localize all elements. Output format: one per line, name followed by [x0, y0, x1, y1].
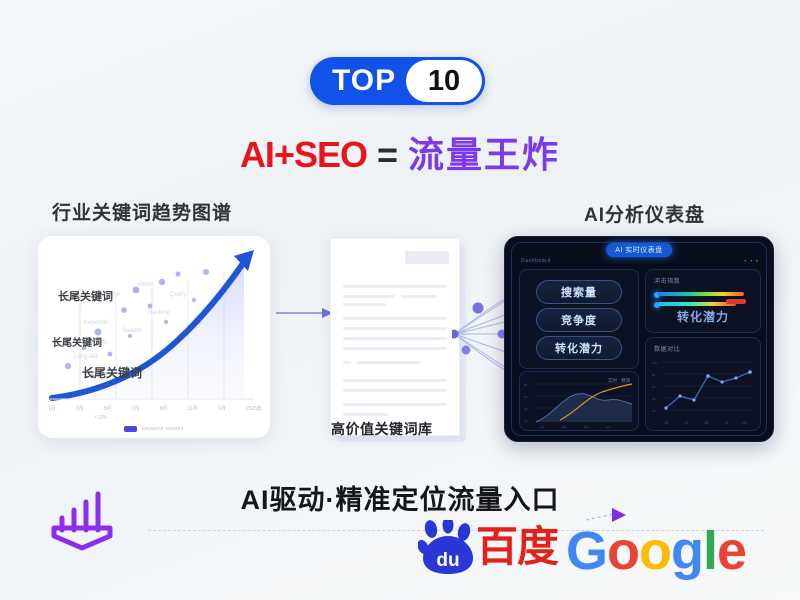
doc-line [343, 379, 447, 382]
metric-button-competition[interactable]: 竞争度 [536, 308, 622, 332]
bottom-tagline: AI驱动·精准定位流量入口 [0, 478, 800, 517]
doc-line [343, 295, 395, 298]
svg-text:Q1: Q1 [540, 425, 544, 429]
section-title-dashboard: AI分析仪表盘 [584, 200, 705, 227]
google-letter: G [566, 521, 607, 581]
metric-button-search-volume[interactable]: 搜索量 [536, 280, 622, 304]
doc-line [343, 389, 447, 392]
flow-arrow-icon [276, 304, 334, 322]
svg-text:40: 40 [652, 397, 656, 401]
trend-legend: keyword volume [38, 426, 270, 432]
trend-chart-card: VolumeIntent KeywordSearch TrafficRankin… [38, 236, 270, 438]
axis-tick: 1月 [218, 405, 226, 412]
keyword-library-label: 高价值关键词库 [331, 419, 433, 439]
doc-line [343, 285, 447, 288]
doc-line [343, 317, 447, 320]
keyword-library-card: 高价值关键词库 [330, 238, 460, 436]
doc-line [343, 327, 447, 330]
headline-equals: = [377, 134, 398, 175]
svg-text:60: 60 [652, 385, 656, 389]
svg-text:3月: 3月 [684, 421, 689, 425]
svg-text:60: 60 [524, 395, 528, 399]
keyword-label-1: 长尾关键词 [58, 288, 113, 304]
dashboard-area-chart-panel: 实时 · 预测 Q1Q2 Q3Q4 8060 4020 [519, 371, 639, 431]
legend-label: keyword volume [142, 426, 184, 432]
svg-text:Intent: Intent [138, 282, 153, 288]
svg-text:Query: Query [170, 292, 186, 298]
svg-text:100: 100 [652, 361, 657, 365]
axis-tick: 7月 [132, 405, 140, 412]
axis-tick: 1月 [48, 405, 56, 412]
doc-header-block [405, 251, 449, 264]
doc-line [357, 361, 421, 364]
dashboard-header-label: Dashboard [521, 258, 551, 264]
top-badge-label: TOP [332, 66, 396, 96]
doc-line [343, 303, 387, 306]
page-title: AI+SEO=流量王炸 [0, 126, 800, 178]
google-letter: o [607, 521, 639, 581]
google-letter: e [717, 521, 746, 581]
top-badge-number: 10 [428, 67, 460, 96]
axis-tick: 9月 [160, 405, 168, 412]
doc-line [343, 337, 447, 340]
bar-chart-icon [48, 486, 118, 552]
keyword-label-2: 长尾关键词 [52, 334, 102, 349]
google-letter: g [671, 521, 703, 581]
svg-text:9月: 9月 [742, 421, 747, 425]
svg-text:Q4: Q4 [606, 425, 610, 429]
heat-bar-secondary [658, 302, 736, 306]
doc-page [330, 238, 460, 436]
google-letter: l [703, 521, 717, 581]
svg-text:Ranking: Ranking [148, 310, 170, 316]
slide-canvas: TOP 10 AI+SEO=流量王炸 行业关键词趋势图谱 AI分析仪表盘 [0, 0, 800, 600]
svg-text:80: 80 [524, 383, 528, 387]
doc-line [343, 347, 447, 350]
trend-sub-tick: +12% [94, 415, 107, 421]
axis-tick: 2025年 [246, 405, 262, 412]
legend-swatch-icon [124, 426, 137, 432]
svg-text:Q2: Q2 [562, 425, 566, 429]
axis-tick: 11月 [188, 405, 198, 412]
dashboard-menu-icon[interactable]: • • • [744, 259, 759, 265]
svg-text:20: 20 [652, 409, 656, 413]
doc-line [343, 403, 447, 406]
metrics-panel: 搜索量 竞争度 转化潜力 [519, 269, 639, 369]
top-badge-circle: 10 [406, 60, 482, 102]
svg-text:Long-tail: Long-tail [74, 354, 97, 360]
data-comparison-panel: 数据对比 10080 604020 1月3月 [645, 337, 761, 431]
svg-text:5月: 5月 [704, 421, 709, 425]
svg-text:7月: 7月 [724, 421, 729, 425]
baidu-paw-icon: du [418, 520, 478, 576]
dashboard-title-badge: AI 实时仪表盘 [606, 243, 672, 257]
baidu-du-text: du [436, 550, 459, 571]
metric-button-conversion[interactable]: 转化潜力 [536, 336, 622, 360]
doc-line [343, 361, 351, 364]
svg-text:Keyword: Keyword [84, 320, 107, 326]
top-rank-badge: TOP 10 [310, 57, 485, 105]
svg-text:20: 20 [524, 419, 528, 423]
svg-text:40: 40 [524, 407, 528, 411]
impact-index-title: 冲击指数 [654, 276, 680, 285]
svg-text:80: 80 [652, 373, 656, 377]
heat-alert-chip [726, 299, 746, 304]
headline-left: AI+SEO [240, 134, 367, 175]
data-comparison-chart: 10080 604020 1月3月 5月7月9月 [646, 338, 760, 430]
svg-text:Search: Search [122, 328, 141, 334]
keyword-label-3: 长尾关键词 [82, 364, 142, 381]
axis-tick: 3月 [76, 405, 84, 412]
google-logo: Google [566, 518, 746, 584]
ai-dashboard-card: AI 实时仪表盘 Dashboard • • • 搜索量 竞争度 转化潜力 实时… [504, 236, 774, 442]
baidu-wordmark: 百度 [476, 526, 558, 568]
doc-line [401, 295, 437, 298]
trend-axis-ticks: 1月 3月 5月 7月 9月 11月 1月 2025年 [48, 405, 262, 412]
dashboard-area-chart: Q1Q2 Q3Q4 8060 4020 [520, 372, 638, 430]
doc-line [343, 413, 389, 416]
impact-overlay-label: 转化潜力 [646, 308, 760, 325]
baidu-logo: du 百度 [418, 520, 568, 582]
impact-index-panel: 冲击指数 转化潜力 [645, 269, 761, 333]
google-letter: o [639, 521, 671, 581]
svg-text:1月: 1月 [664, 421, 669, 425]
axis-tick: 5月 [104, 405, 112, 412]
heat-bar-primary [658, 292, 744, 296]
google-wordmark: Google [566, 518, 746, 584]
section-title-trend: 行业关键词趋势图谱 [52, 198, 232, 225]
headline-right: 流量王炸 [408, 134, 560, 175]
svg-text:Q3: Q3 [584, 425, 588, 429]
